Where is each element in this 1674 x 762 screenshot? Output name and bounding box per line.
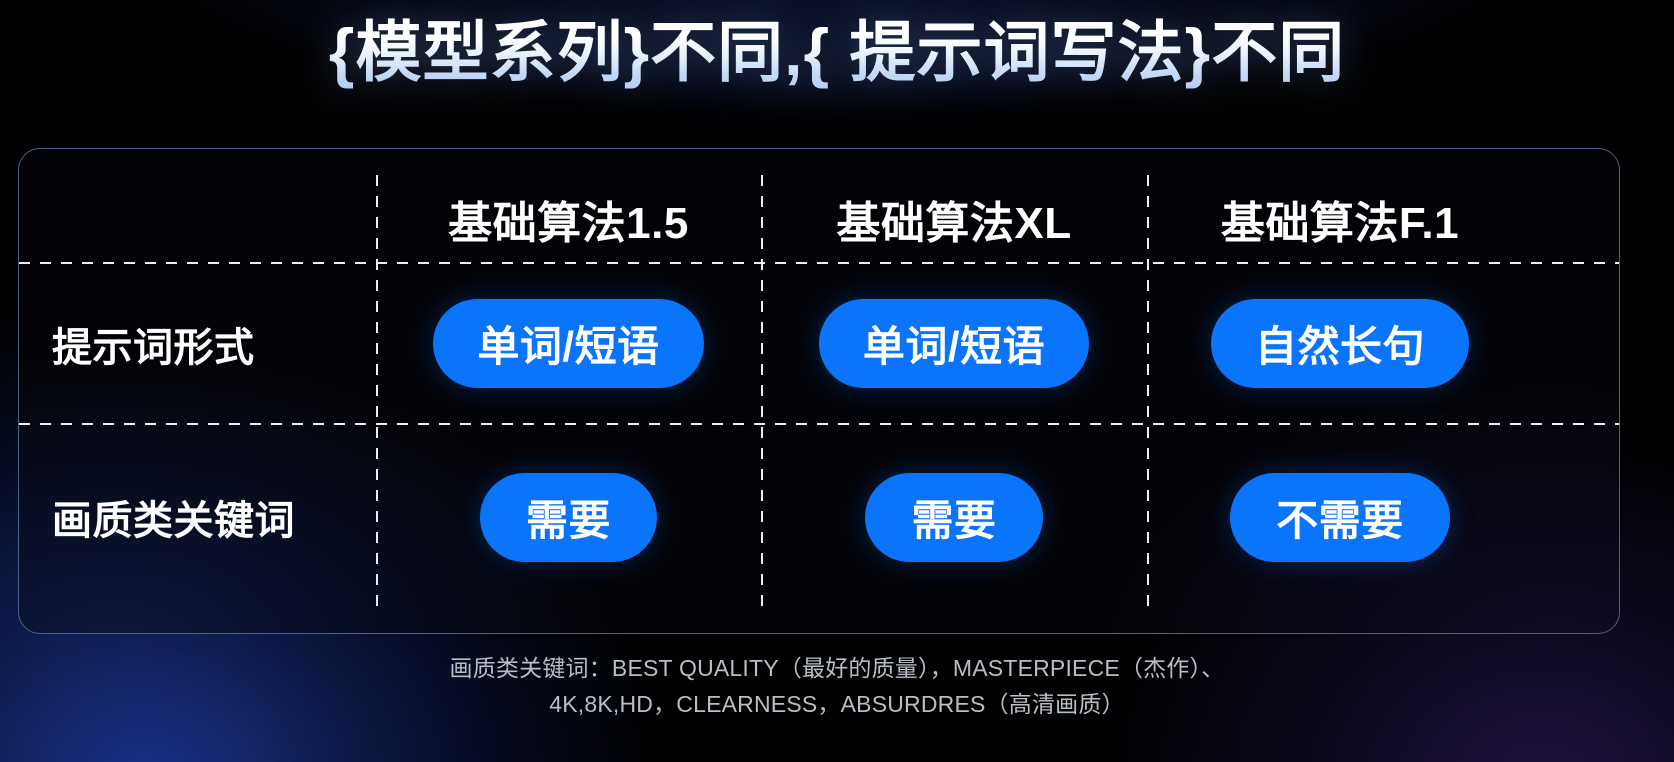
footnote: 画质类关键词：BEST QUALITY（最好的质量），MASTERPIECE（杰… xyxy=(0,650,1674,722)
table-cell-0-0: 单词/短语 xyxy=(376,264,761,423)
table-cell-1-0: 需要 xyxy=(376,425,761,609)
value-pill: 单词/短语 xyxy=(433,299,703,388)
table-cell-0-2: 自然长句 xyxy=(1147,264,1533,423)
table-cell-1-1: 需要 xyxy=(761,425,1147,609)
table-row-header-1: 画质类关键词 xyxy=(37,425,376,609)
value-pill: 不需要 xyxy=(1230,473,1450,562)
slide-title: {模型系列}不同,{ 提示词写法}不同 xyxy=(0,4,1674,100)
table-column-header-0: 基础算法1.5 xyxy=(376,175,761,263)
value-pill: 需要 xyxy=(480,473,657,562)
comparison-table-card: 基础算法1.5 基础算法XL 基础算法F.1 提示词形式 单词/短语 单词/短语… xyxy=(18,148,1620,634)
table-column-header-2: 基础算法F.1 xyxy=(1147,175,1533,263)
table-row-header-0: 提示词形式 xyxy=(37,264,376,423)
slide-root: {模型系列}不同,{ 提示词写法}不同 基础算法1.5 基础算法XL 基础算法F… xyxy=(0,0,1674,762)
value-pill: 单词/短语 xyxy=(819,299,1089,388)
value-pill: 自然长句 xyxy=(1211,299,1469,388)
footnote-line-2: 4K,8K,HD，CLEARNESS，ABSURDRES（高清画质） xyxy=(0,686,1674,722)
table-cell-0-1: 单词/短语 xyxy=(761,264,1147,423)
value-pill: 需要 xyxy=(865,473,1042,562)
table-grid: 基础算法1.5 基础算法XL 基础算法F.1 提示词形式 单词/短语 单词/短语… xyxy=(19,149,1619,633)
table-column-header-1: 基础算法XL xyxy=(761,175,1147,263)
footnote-line-1: 画质类关键词：BEST QUALITY（最好的质量），MASTERPIECE（杰… xyxy=(0,650,1674,686)
table-cell-1-2: 不需要 xyxy=(1147,425,1533,609)
